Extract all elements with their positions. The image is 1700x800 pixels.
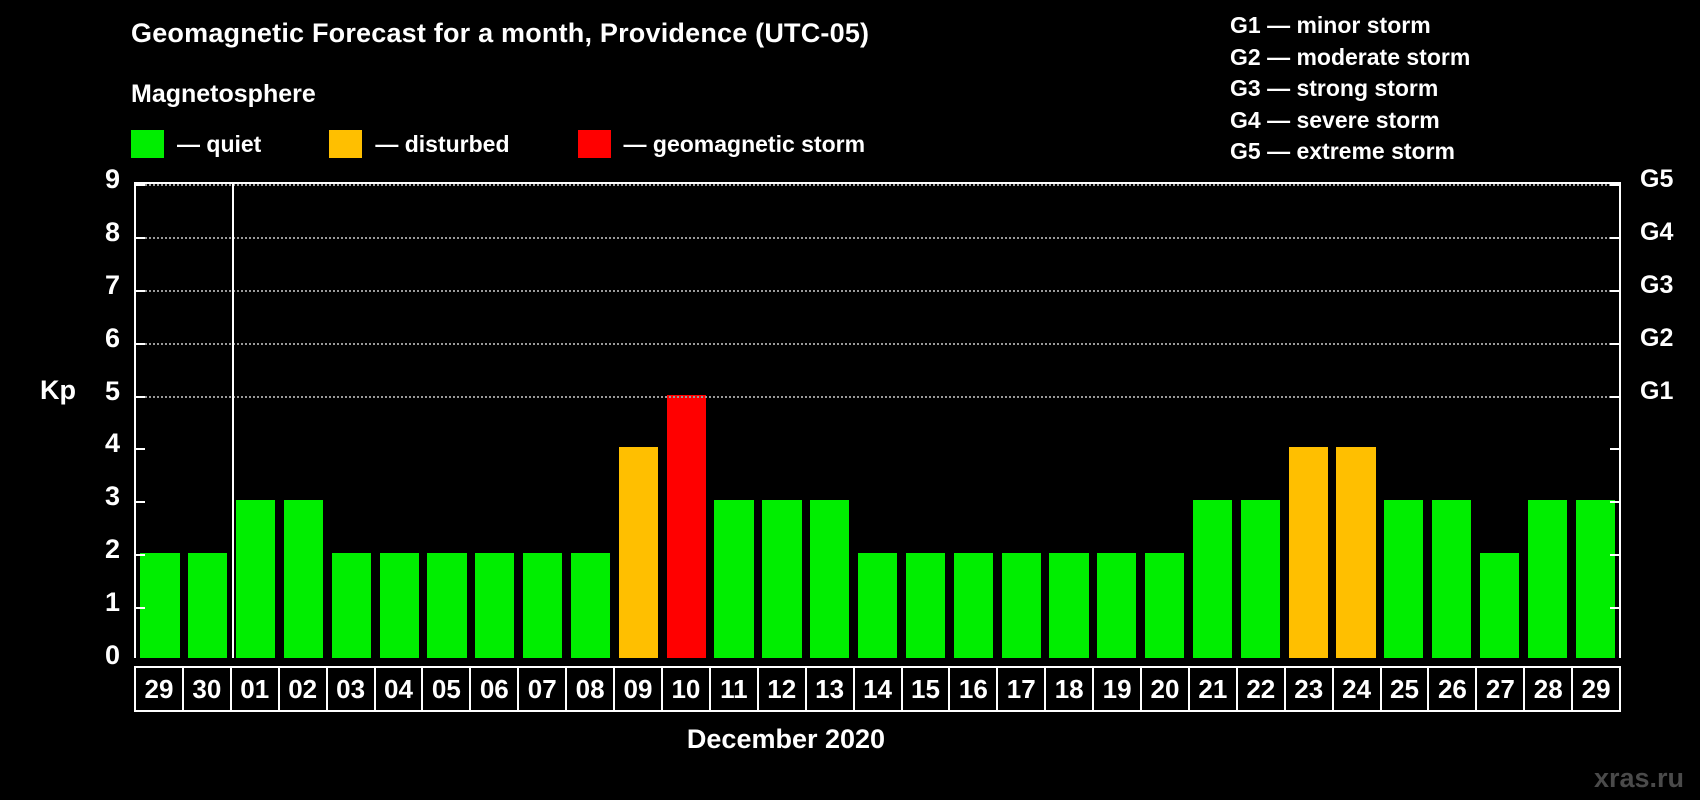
bar[interactable] — [762, 500, 801, 658]
bar-cell[interactable] — [997, 184, 1045, 658]
right-tick-mark — [1610, 448, 1619, 450]
bar[interactable] — [523, 553, 562, 658]
bar[interactable] — [380, 553, 419, 658]
y-tick-mark — [136, 290, 145, 292]
page-title: Geomagnetic Forecast for a month, Provid… — [131, 18, 869, 49]
color-swatch-icon — [578, 130, 611, 158]
bar-cell[interactable] — [471, 184, 519, 658]
bar-cell[interactable] — [758, 184, 806, 658]
bar[interactable] — [188, 553, 227, 658]
y-tick-mark — [136, 184, 145, 186]
y-axis-tick-label: 6 — [74, 323, 120, 354]
bar[interactable] — [1193, 500, 1232, 658]
bar[interactable] — [1241, 500, 1280, 658]
date-label[interactable]: 01 — [232, 668, 280, 710]
y-axis-tick-label: 5 — [74, 376, 120, 407]
bar[interactable] — [1049, 553, 1088, 658]
legend-item-label: — geomagnetic storm — [624, 131, 866, 158]
bar-cell[interactable] — [806, 184, 854, 658]
y-axis-tick-label: 9 — [74, 164, 120, 195]
date-label[interactable]: 05 — [423, 668, 471, 710]
storm-scale-row: G4 — severe storm — [1230, 105, 1470, 137]
watermark: xras.ru — [1594, 763, 1684, 794]
bar-cell[interactable] — [375, 184, 423, 658]
chart-root: Geomagnetic Forecast for a month, Provid… — [0, 0, 1700, 800]
bar[interactable] — [427, 553, 466, 658]
date-label[interactable]: 21 — [1190, 668, 1238, 710]
right-tick-mark — [1610, 396, 1619, 398]
storm-scale-row: G1 — minor storm — [1230, 10, 1470, 42]
y-axis-tick-label: 7 — [74, 270, 120, 301]
bar-cell[interactable] — [614, 184, 662, 658]
y-tick-mark — [136, 396, 145, 398]
bar[interactable] — [906, 553, 945, 658]
y-axis-title: Kp — [40, 375, 76, 406]
bar[interactable] — [1336, 447, 1375, 658]
date-label[interactable]: 20 — [1142, 668, 1190, 710]
x-axis-date-strip: 2930010203040506070809101112131415161718… — [134, 666, 1621, 712]
bar-cell[interactable] — [949, 184, 997, 658]
storm-scale-row: G3 — strong storm — [1230, 73, 1470, 105]
bar[interactable] — [1384, 500, 1423, 658]
legend: — quiet— disturbed— geomagnetic storm — [131, 130, 865, 158]
bar-cell[interactable] — [280, 184, 328, 658]
magnetosphere-label: Magnetosphere — [131, 80, 316, 109]
gridline — [136, 396, 1619, 398]
bar-cell[interactable] — [1236, 184, 1284, 658]
right-tick-mark — [1610, 607, 1619, 609]
date-label[interactable]: 09 — [615, 668, 663, 710]
date-label[interactable]: 19 — [1094, 668, 1142, 710]
right-axis-tick-label: G2 — [1640, 324, 1696, 353]
date-label[interactable]: 02 — [280, 668, 328, 710]
date-label[interactable]: 08 — [567, 668, 615, 710]
date-label[interactable]: 16 — [950, 668, 998, 710]
date-label[interactable]: 25 — [1382, 668, 1430, 710]
bar-cell[interactable] — [423, 184, 471, 658]
right-tick-mark — [1610, 343, 1619, 345]
right-axis-tick-label: G5 — [1640, 165, 1696, 194]
gridline — [136, 343, 1619, 345]
bar-cell[interactable] — [854, 184, 902, 658]
bar[interactable] — [619, 447, 658, 658]
bar-cell[interactable] — [136, 184, 184, 658]
date-label[interactable]: 04 — [376, 668, 424, 710]
gridline — [136, 237, 1619, 239]
date-label[interactable]: 11 — [711, 668, 759, 710]
bar[interactable] — [858, 553, 897, 658]
y-tick-mark — [136, 501, 145, 503]
date-label[interactable]: 03 — [328, 668, 376, 710]
bar[interactable] — [810, 500, 849, 658]
right-tick-mark — [1610, 184, 1619, 186]
bar[interactable] — [1145, 553, 1184, 658]
bar-cell[interactable] — [327, 184, 375, 658]
y-axis-tick-label: 1 — [74, 587, 120, 618]
date-label[interactable]: 13 — [807, 668, 855, 710]
date-label[interactable]: 22 — [1238, 668, 1286, 710]
date-label[interactable]: 12 — [759, 668, 807, 710]
bar-cell[interactable] — [232, 184, 280, 658]
date-label[interactable]: 26 — [1429, 668, 1477, 710]
bar[interactable] — [714, 500, 753, 658]
bar-series — [136, 184, 1619, 658]
bar-cell[interactable] — [184, 184, 232, 658]
month-boundary-separator — [232, 184, 234, 658]
bar[interactable] — [140, 553, 179, 658]
bar[interactable] — [1097, 553, 1136, 658]
y-tick-mark — [136, 607, 145, 609]
x-axis-title: December 2020 — [0, 724, 1636, 755]
gridline — [136, 290, 1619, 292]
storm-scale-row: G5 — extreme storm — [1230, 136, 1470, 168]
right-axis-tick-label: G1 — [1640, 377, 1696, 406]
bar[interactable] — [1480, 553, 1519, 658]
bar-cell[interactable] — [902, 184, 950, 658]
bar[interactable] — [571, 553, 610, 658]
right-tick-mark — [1610, 501, 1619, 503]
bar-cell[interactable] — [1045, 184, 1093, 658]
right-tick-mark — [1610, 554, 1619, 556]
date-label[interactable]: 14 — [855, 668, 903, 710]
y-tick-mark — [136, 237, 145, 239]
right-tick-mark — [1610, 290, 1619, 292]
bar[interactable] — [954, 553, 993, 658]
date-label[interactable]: 15 — [903, 668, 951, 710]
right-axis-tick-label: G4 — [1640, 218, 1696, 247]
bar-cell[interactable] — [567, 184, 615, 658]
bar-cell[interactable] — [1476, 184, 1524, 658]
bar[interactable] — [1432, 500, 1471, 658]
bar-cell[interactable] — [1332, 184, 1380, 658]
y-tick-mark — [136, 448, 145, 450]
plot-area — [134, 182, 1621, 658]
gridline — [136, 184, 1619, 186]
y-tick-mark — [136, 343, 145, 345]
bar[interactable] — [667, 395, 706, 658]
bar[interactable] — [284, 500, 323, 658]
y-axis-tick-label: 4 — [74, 428, 120, 459]
right-tick-mark — [1610, 237, 1619, 239]
right-axis-tick-label: G3 — [1640, 271, 1696, 300]
y-axis-tick-label: 2 — [74, 534, 120, 565]
storm-scale-row: G2 — moderate storm — [1230, 42, 1470, 74]
date-label[interactable]: 18 — [1046, 668, 1094, 710]
bar-cell[interactable] — [1141, 184, 1189, 658]
date-label[interactable]: 30 — [184, 668, 232, 710]
legend-item: — disturbed — [329, 130, 509, 158]
y-axis-tick-label: 8 — [74, 217, 120, 248]
date-label[interactable]: 17 — [998, 668, 1046, 710]
bar[interactable] — [1576, 500, 1615, 658]
color-swatch-icon — [329, 130, 362, 158]
bar-cell[interactable] — [1189, 184, 1237, 658]
date-label[interactable]: 07 — [519, 668, 567, 710]
date-label[interactable]: 10 — [663, 668, 711, 710]
y-tick-mark — [136, 554, 145, 556]
legend-item: — quiet — [131, 130, 261, 158]
bar-cell[interactable] — [1523, 184, 1571, 658]
bar-cell[interactable] — [1093, 184, 1141, 658]
bar[interactable] — [1528, 500, 1567, 658]
bar[interactable] — [475, 553, 514, 658]
date-label[interactable]: 29 — [1573, 668, 1619, 710]
bar[interactable] — [236, 500, 275, 658]
y-axis-tick-label: 0 — [74, 640, 120, 671]
bar[interactable] — [1002, 553, 1041, 658]
date-label[interactable]: 06 — [471, 668, 519, 710]
y-axis-tick-label: 3 — [74, 481, 120, 512]
storm-scale-legend: G1 — minor stormG2 — moderate stormG3 — … — [1230, 10, 1470, 168]
legend-item-label: — disturbed — [375, 131, 509, 158]
date-label[interactable]: 24 — [1334, 668, 1382, 710]
bar-cell[interactable] — [1571, 184, 1619, 658]
bar-cell[interactable] — [662, 184, 710, 658]
color-swatch-icon — [131, 130, 164, 158]
bar-cell[interactable] — [1380, 184, 1428, 658]
bar[interactable] — [1289, 447, 1328, 658]
date-label[interactable]: 27 — [1477, 668, 1525, 710]
bar[interactable] — [332, 553, 371, 658]
bar-cell[interactable] — [1428, 184, 1476, 658]
date-label[interactable]: 23 — [1286, 668, 1334, 710]
date-label[interactable]: 29 — [136, 668, 184, 710]
legend-item-label: — quiet — [177, 131, 261, 158]
legend-item: — geomagnetic storm — [578, 130, 866, 158]
bar-cell[interactable] — [519, 184, 567, 658]
bar-cell[interactable] — [710, 184, 758, 658]
date-label[interactable]: 28 — [1525, 668, 1573, 710]
bar-cell[interactable] — [1284, 184, 1332, 658]
